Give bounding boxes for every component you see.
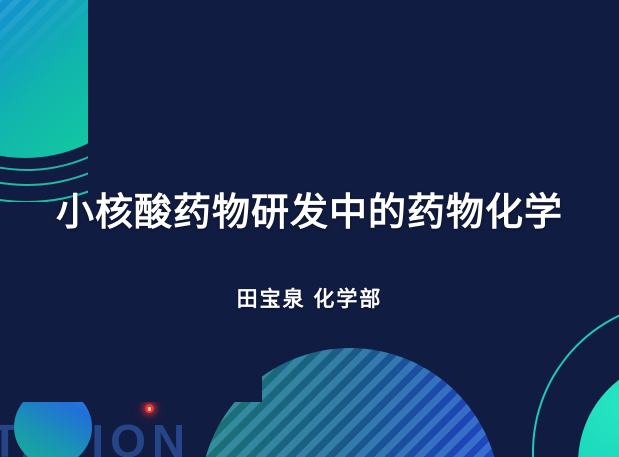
top-left-decoration-group bbox=[0, 0, 212, 202]
decoration-mask-right bbox=[88, 0, 368, 332]
presentation-title-slide: ITATION 小核酸药物研发中的药物化学 田宝泉 化学部 bbox=[0, 0, 619, 457]
gradient-disc-decoration bbox=[0, 0, 168, 158]
arc-ring-5 bbox=[0, 0, 302, 292]
arc-ring-1 bbox=[0, 0, 214, 204]
striped-disc-decoration bbox=[200, 348, 500, 457]
red-accent-dot-icon bbox=[145, 404, 154, 413]
arc-ring-2 bbox=[0, 0, 232, 222]
teal-blob-decoration bbox=[78, 0, 156, 2]
disc-stripe-overlay bbox=[0, 0, 168, 158]
gradient-circle-decoration bbox=[14, 388, 92, 457]
slide-title: 小核酸药物研发中的药物化学 bbox=[0, 190, 619, 236]
small-gradient-dot-decoration bbox=[330, 100, 368, 138]
slide-subtitle-presenter: 田宝泉 化学部 bbox=[0, 286, 619, 314]
